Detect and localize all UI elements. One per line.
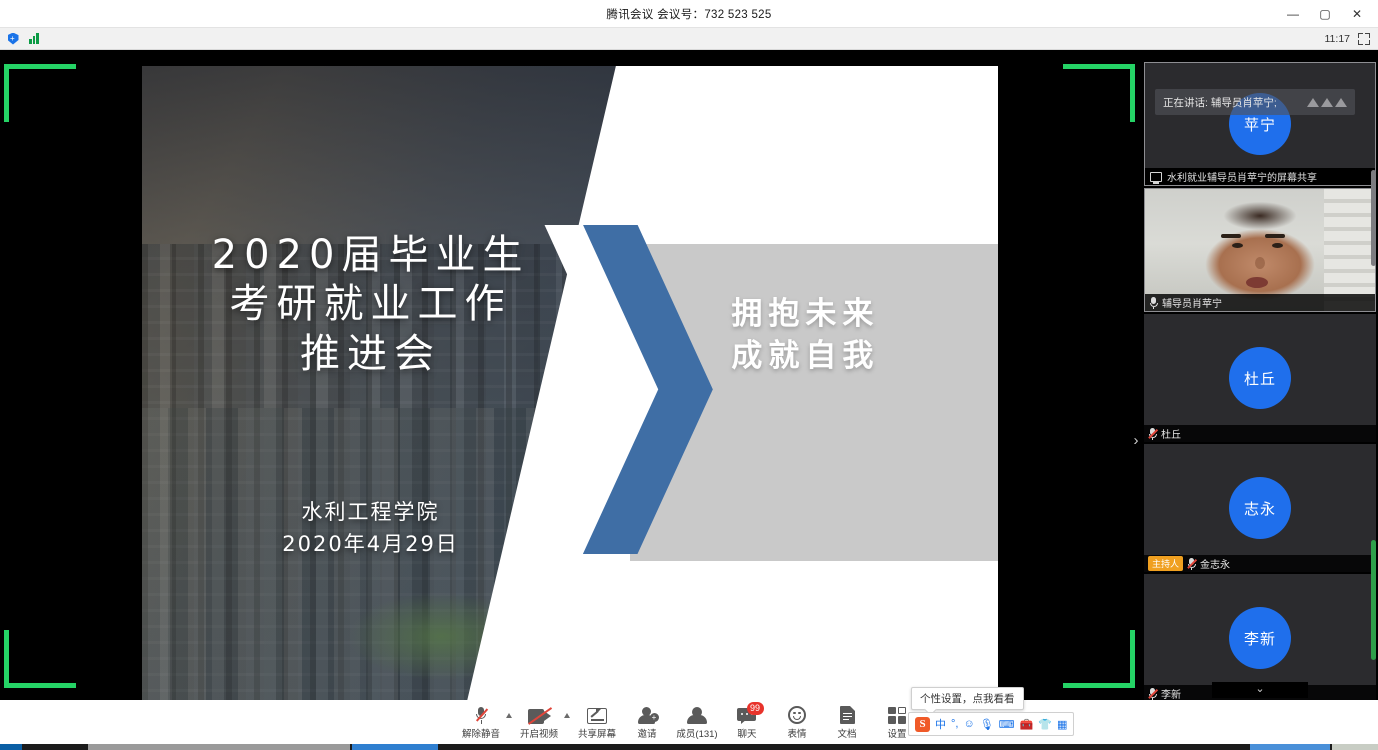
participant-name: 金志永 — [1200, 556, 1230, 571]
rail-scrollbar-thumb[interactable] — [1371, 170, 1376, 266]
toolbar-label: 设置 — [887, 726, 906, 740]
scroll-down-button[interactable]: ⌄ — [1212, 682, 1308, 698]
toolbar-label: 邀请 — [637, 726, 656, 740]
webcam-feed — [1145, 189, 1375, 311]
host-badge: 主持人 — [1148, 556, 1183, 571]
avatar: 志永 — [1229, 477, 1291, 539]
background-shelf — [1324, 189, 1375, 311]
emoji-icon — [788, 705, 806, 724]
minimize-button[interactable]: — — [1278, 1, 1308, 27]
tile-name-bar: 杜丘 — [1144, 425, 1376, 442]
ime-mode-label[interactable]: 中 — [935, 716, 946, 732]
microphone-muted-icon — [1148, 688, 1157, 700]
toolbar-button-document[interactable]: 文档 — [822, 700, 872, 744]
windows-taskbar — [0, 744, 1378, 750]
toolbar-button-start-video[interactable]: 开启视频 — [514, 700, 564, 744]
voice-input-icon[interactable]: 🎙 — [980, 718, 994, 731]
meeting-toolbar: 解除静音 开启视频 共享屏幕 + 邀请 — [0, 700, 1378, 744]
microphone-icon — [1149, 297, 1158, 309]
text-cursor — [888, 600, 889, 620]
secondary-toolbar: 11:17 — [0, 28, 1378, 50]
skin-icon[interactable]: 👕 — [1038, 718, 1052, 731]
toolbar-button-unmute[interactable]: 解除静音 — [456, 700, 506, 744]
fullscreen-icon[interactable] — [1358, 33, 1370, 45]
keyboard-icon[interactable]: ⌨ — [999, 718, 1015, 731]
eye-right — [1272, 243, 1283, 248]
taskbar-item-2[interactable] — [352, 744, 438, 750]
toolbar-button-share-screen[interactable]: 共享屏幕 — [572, 700, 622, 744]
close-button[interactable]: ✕ — [1342, 1, 1372, 27]
taskbar-tray[interactable] — [1332, 744, 1378, 750]
share-name-bar: 水利就业辅导员肖苹宁的屏幕共享 — [1145, 168, 1375, 185]
settings-grid-icon — [888, 705, 906, 724]
tile-name-bar: 辅导员肖苹宁 — [1145, 294, 1375, 311]
video-options-caret-icon[interactable] — [564, 713, 570, 718]
brow-right — [1265, 234, 1285, 238]
ime-toolbar[interactable]: S 中 °, ☺ 🎙 ⌨ 🧰 👕 ▦ — [908, 712, 1074, 736]
slide-slogan: 拥抱未来 成就自我 — [664, 294, 946, 378]
emoji-icon[interactable]: ☺ — [963, 718, 974, 730]
participant-name: 杜丘 — [1161, 426, 1181, 441]
slide-organization: 水利工程学院 — [148, 497, 593, 529]
ime-punctuation-icon[interactable]: °, — [951, 718, 958, 730]
toolbar-label: 聊天 — [737, 726, 756, 740]
invite-person-icon: + — [638, 705, 657, 724]
tile-body: 志永 — [1144, 444, 1376, 572]
toolbar-items: 解除静音 开启视频 共享屏幕 + 邀请 — [456, 700, 922, 744]
toolbar-label: 文档 — [837, 726, 856, 740]
subbar-right-icons: 11:17 — [1325, 33, 1378, 45]
signal-bars-icon[interactable] — [25, 31, 43, 47]
tile-name-bar: 主持人 金志永 — [1144, 555, 1376, 572]
microphone-muted-icon — [476, 705, 487, 724]
toolbar-label: 共享屏幕 — [578, 726, 616, 740]
sogou-logo-icon[interactable]: S — [915, 717, 930, 732]
share-border-corner-bottom-left — [4, 630, 76, 688]
eye-left — [1232, 243, 1243, 248]
members-icon — [686, 705, 708, 724]
toolbar-label: 开启视频 — [520, 726, 558, 740]
toolbar-label: 成员(131) — [676, 726, 717, 740]
taskbar-item-3[interactable] — [1250, 744, 1330, 750]
avatar: 杜丘 — [1229, 347, 1291, 409]
tile-body: 杜丘 — [1144, 314, 1376, 442]
brow-left — [1221, 234, 1241, 238]
share-border-corner-bottom-right — [1063, 630, 1135, 688]
share-border-corner-top-right — [1063, 64, 1135, 122]
window-title: 腾讯会议 会议号：732 523 525 — [606, 6, 771, 22]
toolbar-button-invite[interactable]: + 邀请 — [622, 700, 672, 744]
nose — [1255, 257, 1265, 269]
speaking-indicator: 正在讲话: 辅导员肖苹宁; — [1155, 89, 1355, 115]
toolbar-button-chat[interactable]: 99 聊天 — [722, 700, 772, 744]
subbar-left-icons — [0, 31, 43, 47]
toolbar-label: 表情 — [787, 726, 806, 740]
window-controls: — ▢ ✕ — [1278, 0, 1372, 28]
chat-icon: 99 — [737, 705, 758, 724]
meeting-window: 腾讯会议 会议号：732 523 525 — ▢ ✕ 11:17 — [0, 0, 1378, 750]
toolbar-button-emoji[interactable]: 表情 — [772, 700, 822, 744]
apps-icon[interactable]: ▦ — [1057, 718, 1067, 731]
ime-tooltip: 个性设置，点我看看 — [911, 687, 1024, 710]
clock-label: 11:17 — [1325, 33, 1351, 45]
participant-tile-share[interactable]: 苹宁 正在讲话: 辅导员肖苹宁; 水利就业辅导员肖苹宁的屏幕共享 — [1144, 62, 1376, 186]
participant-tile-host[interactable]: 志永 主持人 金志永 — [1144, 444, 1376, 572]
shield-icon[interactable] — [4, 31, 22, 47]
maximize-button[interactable]: ▢ — [1310, 1, 1340, 27]
title-bar: 腾讯会议 会议号：732 523 525 — ▢ ✕ — [0, 0, 1378, 28]
audio-wave-icon — [1307, 98, 1347, 107]
tile-body: 苹宁 — [1145, 63, 1375, 185]
screen-share-icon — [587, 705, 607, 724]
mouth — [1246, 277, 1268, 288]
participant-name: 辅导员肖苹宁 — [1162, 295, 1222, 310]
share-label: 水利就业辅导员肖苹宁的屏幕共享 — [1167, 169, 1317, 184]
shared-screen-stage[interactable]: 2020届毕业生 考研就业工作 推进会 水利工程学院 2020年4月29日 拥抱… — [0, 50, 1140, 700]
taskbar-item-1[interactable] — [88, 744, 350, 750]
presentation-slide: 2020届毕业生 考研就业工作 推进会 水利工程学院 2020年4月29日 拥抱… — [142, 66, 998, 700]
audio-options-caret-icon[interactable] — [506, 713, 512, 718]
chat-unread-badge: 99 — [747, 702, 764, 715]
toolbar-button-members[interactable]: 成员(131) — [672, 700, 722, 744]
participant-tile-duqiu[interactable]: 杜丘 杜丘 — [1144, 314, 1376, 442]
participant-tile-video[interactable]: 辅导员肖苹宁 — [1144, 188, 1376, 312]
slide-subtitle: 水利工程学院 2020年4月29日 — [148, 497, 593, 560]
toolbar-label: 解除静音 — [462, 726, 500, 740]
chevron-right-icon[interactable]: › — [1128, 430, 1140, 452]
document-icon — [840, 705, 855, 724]
microphone-muted-icon — [1148, 428, 1157, 440]
rail-scrollbar-track-highlight[interactable] — [1371, 540, 1376, 660]
microphone-muted-icon — [1187, 558, 1196, 570]
avatar: 李新 — [1229, 607, 1291, 669]
taskbar-start[interactable] — [0, 744, 22, 750]
participant-rail[interactable]: 苹宁 正在讲话: 辅导员肖苹宁; 水利就业辅导员肖苹宁的屏幕共享 — [1144, 62, 1376, 698]
speaking-label: 正在讲话: 辅导员肖苹宁; — [1163, 95, 1277, 110]
share-border-corner-top-left — [4, 64, 76, 122]
slide-date: 2020年4月29日 — [148, 529, 593, 561]
slide-title: 2020届毕业生 考研就业工作 推进会 — [148, 231, 593, 380]
participant-name: 李新 — [1161, 686, 1181, 701]
camera-off-icon — [528, 705, 551, 724]
toolbox-icon[interactable]: 🧰 — [1020, 718, 1034, 731]
monitor-icon — [1150, 172, 1162, 182]
